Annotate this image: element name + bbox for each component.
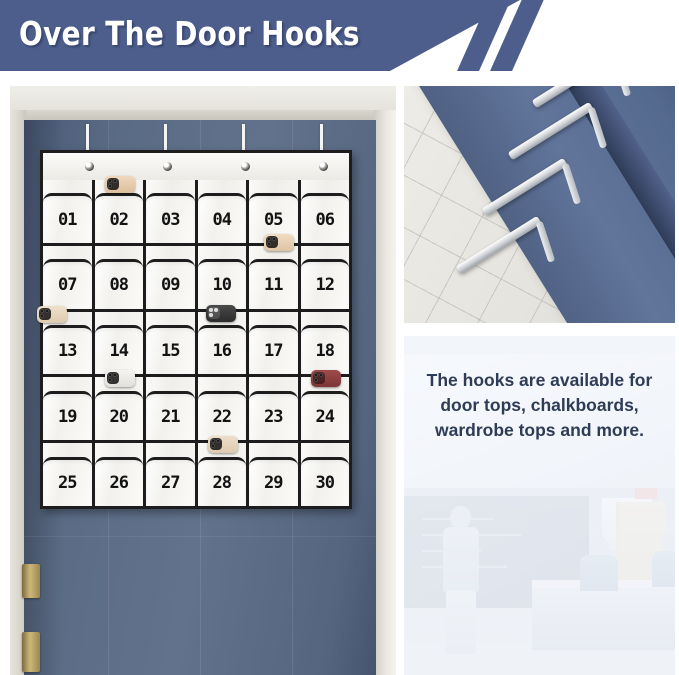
hanging-strap (320, 124, 323, 152)
pocket-number: 18 (316, 341, 334, 361)
pocket-number: 01 (58, 210, 76, 230)
pocket-cell: 19 (43, 377, 92, 440)
pocket-number: 27 (161, 473, 179, 493)
usage-caption: The hooks are available for door tops, c… (404, 368, 675, 443)
pocket: 18 (301, 325, 350, 374)
pocket-number: 21 (161, 407, 179, 427)
phone-in-pocket-13 (37, 306, 67, 323)
pocket-number: 14 (110, 341, 128, 361)
pocket-number: 19 (58, 407, 76, 427)
hooks-scene (404, 86, 675, 323)
pocket: 17 (249, 325, 298, 374)
pocket-number: 23 (264, 407, 282, 427)
pocket: 20 (95, 391, 144, 440)
pocket-row: 01 02 03 04 05 (43, 180, 349, 243)
pocket-cell: 01 (43, 180, 92, 243)
camera-module-icon (208, 307, 220, 319)
grommet-icon (319, 162, 328, 171)
product-infographic: Over The Door Hooks (0, 0, 679, 675)
pocket-number: 05 (264, 210, 282, 230)
pocket-number: 22 (213, 407, 231, 427)
hooks-detail-photo (404, 86, 675, 323)
pocket-number: 08 (110, 275, 128, 295)
camera-module-icon (210, 438, 222, 450)
camera-module-icon (39, 308, 51, 320)
phone-in-pocket-16 (206, 305, 236, 322)
pocket-cell: 25 (43, 443, 92, 506)
pocket: 07 (43, 259, 92, 308)
pocket: 02 (95, 193, 144, 242)
door-panel-line (24, 536, 376, 537)
grommet-icon (85, 162, 94, 171)
pocket-cell: 27 (143, 443, 195, 506)
phone-in-pocket-20 (105, 370, 135, 387)
door-scene: 01 02 03 04 05 (10, 86, 396, 675)
pocket-cell: 08 (92, 246, 144, 309)
pocket-number: 12 (316, 275, 334, 295)
pocket-cell: 05 (246, 180, 298, 243)
pocket-number: 17 (264, 341, 282, 361)
pocket: 09 (146, 259, 195, 308)
pocket-cell: 12 (298, 246, 350, 309)
pocket-number: 06 (316, 210, 334, 230)
pocket-cell: 26 (92, 443, 144, 506)
pocket-chart: 01 02 03 04 05 (40, 150, 352, 509)
pocket: 10 (198, 259, 247, 308)
pocket-number: 24 (316, 407, 334, 427)
phone-in-pocket-28 (208, 436, 238, 453)
pocket-number: 11 (264, 275, 282, 295)
phone-in-pocket-05 (264, 234, 294, 251)
pocket: 14 (95, 325, 144, 374)
pocket-number: 15 (161, 341, 179, 361)
pocket-cell: 14 (92, 312, 144, 375)
grommet-icon (163, 162, 172, 171)
pocket-cell: 03 (143, 180, 195, 243)
pocket: 13 (43, 325, 92, 374)
pocket-cell: 13 (43, 312, 92, 375)
door-lock-plate (22, 564, 40, 598)
pocket-cell: 07 (43, 246, 92, 309)
pocket: 19 (43, 391, 92, 440)
pocket-cell: 11 (246, 246, 298, 309)
main-product-photo: 01 02 03 04 05 (10, 86, 396, 675)
pocket-row: 13 14 15 16 17 (43, 309, 349, 375)
pocket: 15 (146, 325, 195, 374)
pocket-number: 20 (110, 407, 128, 427)
pocket-cell: 24 (298, 377, 350, 440)
page-title: Over The Door Hooks (19, 12, 360, 56)
pocket-number: 13 (58, 341, 76, 361)
hanging-strap (164, 124, 167, 152)
pocket-cell: 06 (298, 180, 350, 243)
pocket: 01 (43, 193, 92, 242)
grommet-icon (241, 162, 250, 171)
pocket-number: 04 (213, 210, 231, 230)
pocket-number: 26 (110, 473, 128, 493)
pocket-cell: 29 (246, 443, 298, 506)
header-banner: Over The Door Hooks (0, 0, 679, 71)
pocket: 16 (198, 325, 247, 374)
pocket: 24 (301, 391, 350, 440)
pocket-number: 30 (316, 473, 334, 493)
camera-module-icon (313, 372, 325, 384)
pocket-cell: 22 (195, 377, 247, 440)
chart-top-strip (43, 153, 349, 183)
pocket: 03 (146, 193, 195, 242)
pocket-cell: 15 (143, 312, 195, 375)
usage-description-panel: The hooks are available for door tops, c… (404, 336, 675, 675)
pocket-cell: 20 (92, 377, 144, 440)
pocket-number: 16 (213, 341, 231, 361)
pocket: 04 (198, 193, 247, 242)
pocket-row: 25 26 27 28 29 (43, 440, 349, 506)
pocket-number: 02 (110, 210, 128, 230)
pocket: 25 (43, 457, 92, 506)
phone-in-pocket-24 (311, 370, 341, 387)
pocket-cell: 18 (298, 312, 350, 375)
pocket: 27 (146, 457, 195, 506)
pocket-cell: 28 (195, 443, 247, 506)
pocket-cell: 23 (246, 377, 298, 440)
pocket: 06 (301, 193, 350, 242)
pocket: 28 (198, 457, 247, 506)
pocket-number: 09 (161, 275, 179, 295)
pocket-number: 03 (161, 210, 179, 230)
pocket: 29 (249, 457, 298, 506)
camera-module-icon (107, 372, 119, 384)
pocket-number: 07 (58, 275, 76, 295)
pocket-number: 28 (213, 473, 231, 493)
pocket: 26 (95, 457, 144, 506)
pocket-cell: 16 (195, 312, 247, 375)
pocket: 08 (95, 259, 144, 308)
pocket-cell: 10 (195, 246, 247, 309)
pocket-cell: 21 (143, 377, 195, 440)
pocket-cell: 04 (195, 180, 247, 243)
pocket: 23 (249, 391, 298, 440)
pocket-cell: 30 (298, 443, 350, 506)
pocket-row: 19 20 21 22 23 (43, 374, 349, 440)
camera-module-icon (266, 236, 278, 248)
pocket-number: 25 (58, 473, 76, 493)
classroom-scene: The hooks are available for door tops, c… (404, 336, 675, 675)
camera-module-icon (107, 178, 119, 190)
pocket: 22 (198, 391, 247, 440)
pocket: 21 (146, 391, 195, 440)
pocket-cell: 17 (246, 312, 298, 375)
pocket: 12 (301, 259, 350, 308)
phone-in-pocket-02 (105, 176, 135, 193)
pocket-cell: 02 (92, 180, 144, 243)
pocket: 30 (301, 457, 350, 506)
door-lock-plate (22, 632, 40, 672)
pocket-number: 10 (213, 275, 231, 295)
hanging-strap (86, 124, 89, 152)
pocket: 11 (249, 259, 298, 308)
door-frame-right (374, 110, 396, 675)
pocket-grid: 01 02 03 04 05 (43, 180, 349, 506)
pocket-number: 29 (264, 473, 282, 493)
pocket-cell: 09 (143, 246, 195, 309)
hanging-strap (242, 124, 245, 152)
pocket-row: 07 08 09 10 11 (43, 243, 349, 309)
